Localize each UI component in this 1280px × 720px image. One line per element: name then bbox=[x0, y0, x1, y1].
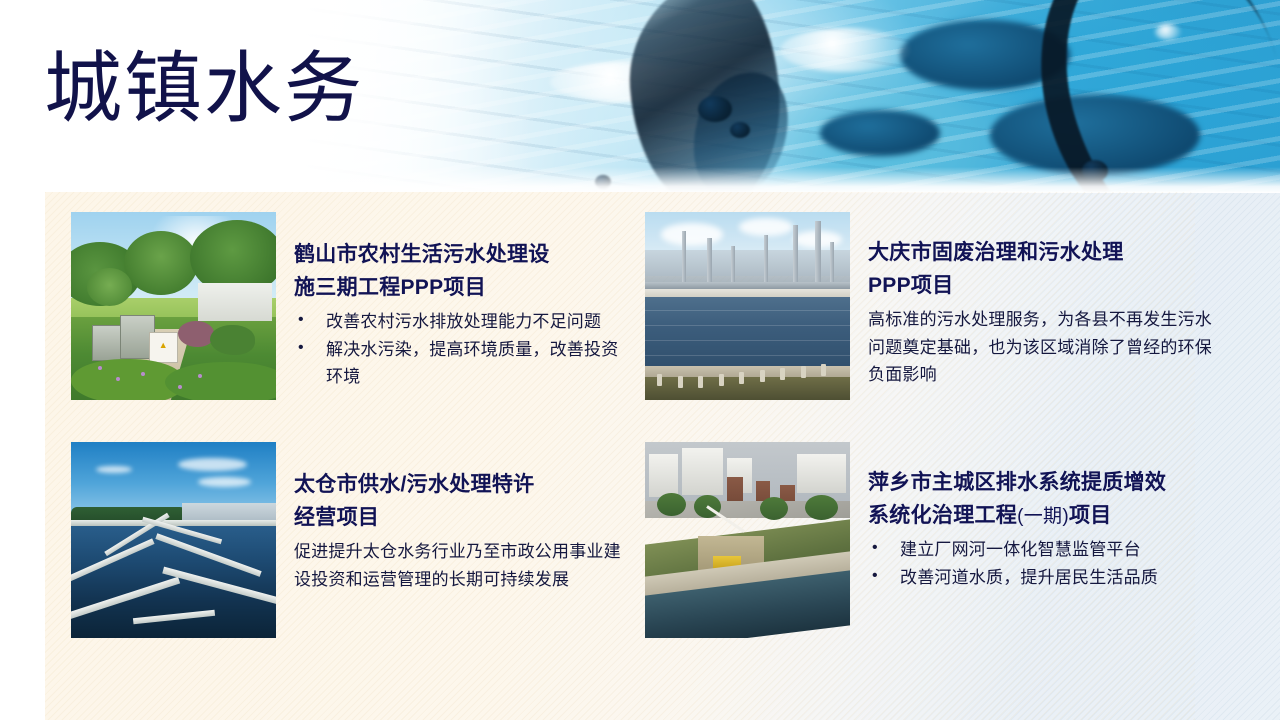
card-title-line: 大庆市固废治理和污水处理 bbox=[868, 236, 1215, 269]
card-body: 大庆市固废治理和污水处理 PPP项目 高标准的污水处理服务，为各县不再发生污水问… bbox=[868, 212, 1215, 400]
card-title-line: 施三期工程PPP项目 bbox=[294, 271, 631, 304]
card-title-segment: 系统化治理工程 bbox=[868, 504, 1017, 527]
project-card-taicang[interactable]: 太仓市供水/污水处理特许 经营项目 促进提升太仓水务行业乃至市政公用事业建设投资… bbox=[71, 442, 631, 638]
water-highlight bbox=[780, 28, 910, 72]
rural-sewage-facility-photo bbox=[71, 212, 276, 400]
list-item: 建立厂网河一体化智慧监管平台 bbox=[868, 536, 1225, 564]
card-body: 萍乡市主城区排水系统提质增效 系统化治理工程(一期)项目 建立厂网河一体化智慧监… bbox=[868, 442, 1225, 638]
card-title: 鹤山市农村生活污水处理设 施三期工程PPP项目 bbox=[294, 238, 631, 304]
card-paragraph: 高标准的污水处理服务，为各县不再发生污水问题奠定基础，也为该区域消除了曾经的环保… bbox=[868, 306, 1215, 389]
project-card-daqing[interactable]: 大庆市固废治理和污水处理 PPP项目 高标准的污水处理服务，为各县不再发生污水问… bbox=[645, 212, 1215, 400]
card-title-line: 萍乡市主城区排水系统提质增效 bbox=[868, 466, 1225, 499]
photo-art bbox=[71, 442, 276, 638]
water-droplet bbox=[698, 96, 732, 122]
card-title-line: 经营项目 bbox=[294, 501, 631, 534]
list-item: 改善农村污水排放处理能力不足问题 bbox=[294, 308, 631, 336]
card-title-line: PPP项目 bbox=[868, 269, 1215, 302]
slide-root: 城镇水务 bbox=[0, 0, 1280, 720]
page-title: 城镇水务 bbox=[44, 48, 364, 130]
water-splash-photo bbox=[300, 0, 1280, 193]
water-droplet bbox=[730, 122, 750, 138]
urban-river-construction-photo bbox=[645, 442, 850, 638]
industrial-wastewater-plant-photo bbox=[645, 212, 850, 400]
card-paragraph: 促进提升太仓水务行业乃至市政公用事业建设投资和运营管理的长期可持续发展 bbox=[294, 538, 631, 593]
project-card-pingxiang[interactable]: 萍乡市主城区排水系统提质增效 系统化治理工程(一期)项目 建立厂网河一体化智慧监… bbox=[645, 442, 1225, 638]
photo-art bbox=[645, 442, 850, 638]
card-title: 太仓市供水/污水处理特许 经营项目 bbox=[294, 468, 631, 534]
card-title: 萍乡市主城区排水系统提质增效 系统化治理工程(一期)项目 bbox=[868, 466, 1225, 532]
water-bottom-fade bbox=[300, 167, 1280, 193]
card-title-phase: (一期) bbox=[1017, 506, 1069, 527]
card-title-line: 太仓市供水/污水处理特许 bbox=[294, 468, 631, 501]
card-title-segment: 项目 bbox=[1069, 504, 1112, 527]
photo-art bbox=[645, 212, 850, 400]
sedimentation-tanks-photo bbox=[71, 442, 276, 638]
card-body: 太仓市供水/污水处理特许 经营项目 促进提升太仓水务行业乃至市政公用事业建设投资… bbox=[294, 442, 631, 638]
card-bullet-list: 改善农村污水排放处理能力不足问题 解决水污染，提高环境质量，改善投资环境 bbox=[294, 308, 631, 391]
water-highlight bbox=[1155, 24, 1181, 40]
photo-art bbox=[71, 212, 276, 400]
card-title-line: 系统化治理工程(一期)项目 bbox=[868, 499, 1225, 532]
project-card-hesnan[interactable]: 鹤山市农村生活污水处理设 施三期工程PPP项目 改善农村污水排放处理能力不足问题… bbox=[71, 212, 631, 400]
water-blob bbox=[820, 110, 940, 156]
card-body: 鹤山市农村生活污水处理设 施三期工程PPP项目 改善农村污水排放处理能力不足问题… bbox=[294, 212, 631, 400]
card-bullet-list: 建立厂网河一体化智慧监管平台 改善河道水质，提升居民生活品质 bbox=[868, 536, 1225, 591]
card-title-line: 鹤山市农村生活污水处理设 bbox=[294, 238, 631, 271]
list-item: 解决水污染，提高环境质量，改善投资环境 bbox=[294, 336, 631, 391]
project-cards-grid: 鹤山市农村生活污水处理设 施三期工程PPP项目 改善农村污水排放处理能力不足问题… bbox=[45, 192, 1235, 720]
card-title: 大庆市固废治理和污水处理 PPP项目 bbox=[868, 236, 1215, 302]
list-item: 改善河道水质，提升居民生活品质 bbox=[868, 564, 1225, 592]
